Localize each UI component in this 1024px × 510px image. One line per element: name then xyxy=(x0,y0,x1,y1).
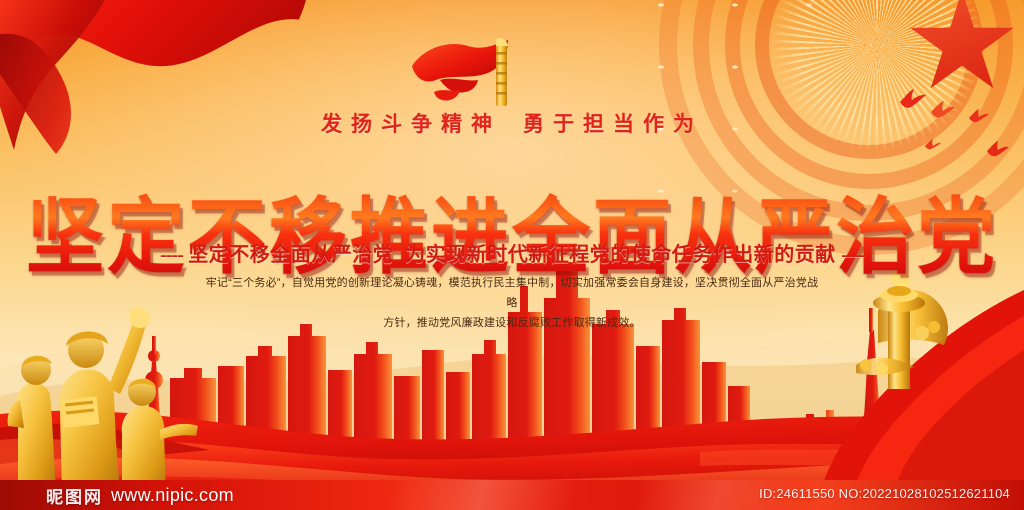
asset-id-text: ID:24611550 NO:20221028102512621104 xyxy=(759,486,1010,501)
golden-heroic-statue-group xyxy=(0,302,210,492)
slogan-left: 发扬斗争精神 xyxy=(321,112,501,136)
slogan-line: 发扬斗争精神勇于担当作为 xyxy=(0,108,1024,138)
subtitle-text-a: 坚定不移全面从严治党 xyxy=(188,244,393,266)
red-flag-emblem-icon xyxy=(404,36,534,114)
subtitle-dash-left: ---- xyxy=(160,244,183,266)
dove-icon xyxy=(986,140,1010,158)
subtitle-line: ---- 坚定不移全面从严治党为实现新时代新征程党的使命任务作出新的贡献 ---… xyxy=(0,238,1024,267)
dove-icon xyxy=(898,88,928,110)
dove-icon xyxy=(924,138,942,151)
brand-name-cn: 昵图网 xyxy=(46,483,103,508)
slogan-right: 勇于担当作为 xyxy=(523,112,703,136)
subtitle-text-b: 为实现新时代新征程党的使命任务作出新的贡献 xyxy=(405,244,836,266)
subtitle-dash-right: ---- xyxy=(841,244,864,266)
body-paragraph: 牢记“三个务必”，自觉用党的创新理论凝心铸魂，模范执行民主集中制，切实加强常委会… xyxy=(202,273,822,333)
body-line-2: 方针，推动党风廉政建设和反腐败工作取得新成效。 xyxy=(202,313,822,333)
brand-watermark: 昵图网 www.nipic.com xyxy=(46,483,234,508)
footer-bar: 昵图网 www.nipic.com ID:24611550 NO:2022102… xyxy=(0,480,1024,510)
brand-url: www.nipic.com xyxy=(111,485,234,506)
poster-canvas: 发扬斗争精神勇于担当作为 坚定不移推进全面从严治党 ---- 坚定不移全面从严治… xyxy=(0,0,1024,510)
body-line-1: 牢记“三个务必”，自觉用党的创新理论凝心铸魂，模范执行民主集中制，切实加强常委会… xyxy=(202,273,822,313)
